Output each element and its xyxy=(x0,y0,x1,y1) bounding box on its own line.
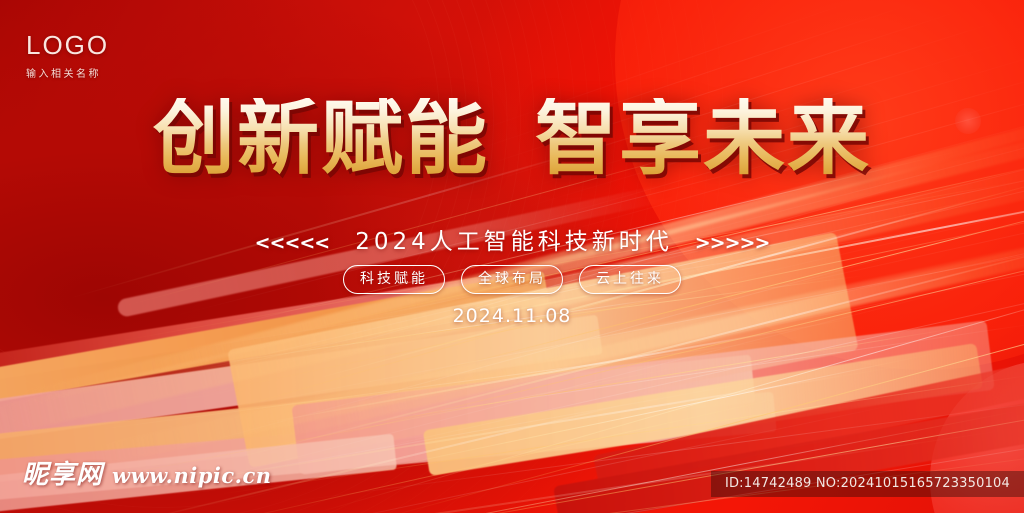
event-date: 2024.11.08 xyxy=(0,305,1024,327)
logo-subtitle: 输入相关名称 xyxy=(26,65,109,80)
logo-block: LOGO 输入相关名称 xyxy=(26,32,109,80)
logo-text: LOGO xyxy=(26,32,109,58)
subtitle-line: <<<<<2024人工智能科技新时代>>>>> xyxy=(0,222,1024,256)
watermark-url: www.nipic.cn xyxy=(112,463,272,488)
tag-item: 科技赋能 xyxy=(343,265,445,294)
watermark-id-bar: ID:14742489 NO:20241015165723350104 xyxy=(711,471,1024,497)
tag-list: 科技赋能 全球布局 云上往来 xyxy=(0,265,1024,294)
headline-part1: 创新赋能 xyxy=(153,98,489,180)
subtitle-text: 2024人工智能科技新时代 xyxy=(355,229,673,255)
headline-part2: 智享未来 xyxy=(535,98,871,180)
watermark: 昵享网 www.nipic.cn xyxy=(22,454,272,491)
poster-canvas: LOGO 输入相关名称 创新赋能智享未来 <<<<<2024人工智能科技新时代>… xyxy=(0,0,1024,513)
right-arrows-icon: >>>>> xyxy=(695,232,770,254)
tag-item: 全球布局 xyxy=(461,265,563,294)
left-arrows-icon: <<<<< xyxy=(255,232,330,254)
watermark-brand: 昵享网 xyxy=(22,454,103,491)
background-light-streaks xyxy=(0,0,1024,513)
tag-item: 云上往来 xyxy=(579,265,681,294)
headline: 创新赋能智享未来 xyxy=(0,98,1024,180)
